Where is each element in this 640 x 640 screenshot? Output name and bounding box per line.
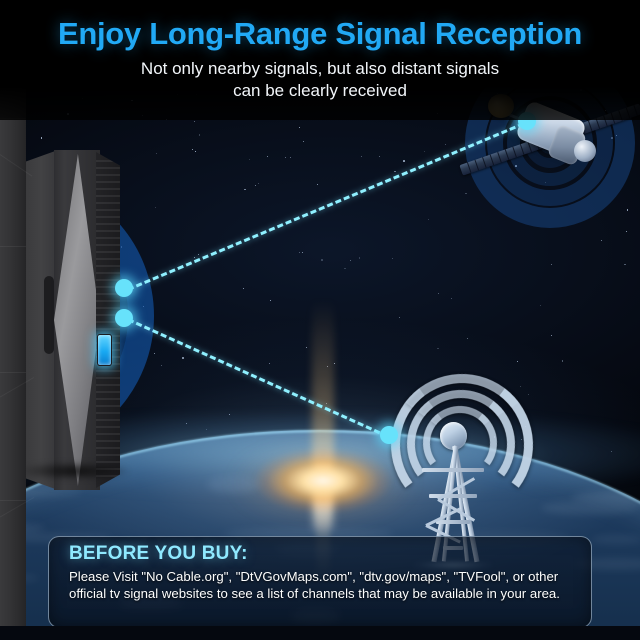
subtitle-line-1: Not only nearby signals, but also distan… bbox=[141, 59, 499, 78]
tower-brace bbox=[436, 520, 470, 524]
tower-receiver-dot bbox=[380, 426, 398, 444]
bottom-strip bbox=[0, 626, 640, 640]
before-you-buy-panel: BEFORE YOU BUY: Please Visit "No Cable.o… bbox=[48, 536, 592, 628]
promo-banner: Enjoy Long-Range Signal Reception Not on… bbox=[0, 0, 640, 640]
subtitle-line-2: can be clearly received bbox=[233, 81, 407, 100]
header-band: Enjoy Long-Range Signal Reception Not on… bbox=[0, 0, 640, 120]
antenna-shadow bbox=[18, 462, 130, 480]
antenna-side-notch bbox=[44, 276, 54, 354]
flat-tv-antenna bbox=[20, 150, 128, 490]
page-subtitle: Not only nearby signals, but also distan… bbox=[0, 58, 640, 102]
antenna-led-indicator bbox=[97, 334, 112, 366]
antenna-emitter-dot-lower bbox=[115, 309, 133, 327]
antenna-emitter-dot-upper bbox=[115, 279, 133, 297]
buy-line-1: Please Visit "No Cable.org", "DtVGovMaps… bbox=[69, 569, 509, 584]
before-you-buy-body: Please Visit "No Cable.org", "DtVGovMaps… bbox=[69, 568, 577, 603]
satellite-thruster bbox=[574, 140, 596, 162]
page-title: Enjoy Long-Range Signal Reception bbox=[0, 16, 640, 52]
tower-brace bbox=[422, 468, 484, 472]
before-you-buy-heading: BEFORE YOU BUY: bbox=[69, 543, 248, 565]
buy-line-3: available in your area. bbox=[431, 586, 560, 601]
